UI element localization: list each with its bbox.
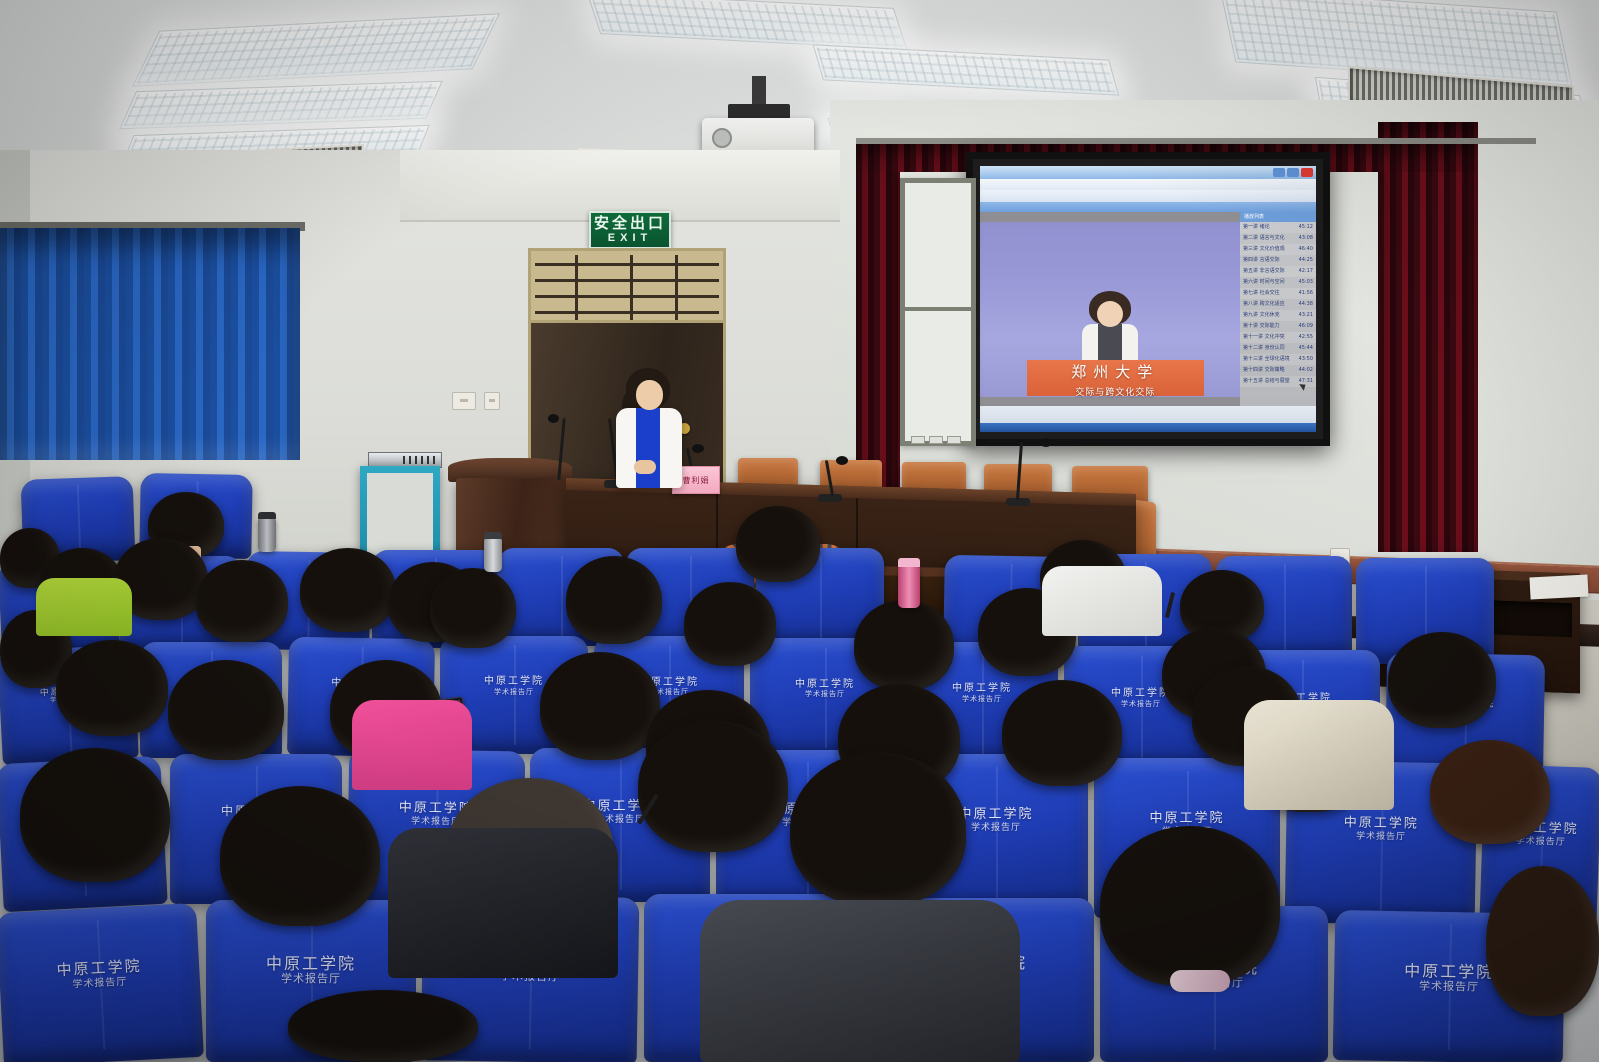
video-subtitle-text: 交际与跨文化交际 bbox=[1027, 385, 1204, 398]
projector-lens bbox=[712, 128, 732, 148]
video-lecturer-face bbox=[1097, 301, 1123, 327]
exit-sign: 安全出口 EXIT bbox=[589, 211, 671, 249]
audience-head bbox=[638, 720, 788, 852]
video-podium-banner: 郑州大学 交际与跨文化交际 bbox=[1027, 360, 1204, 396]
wall-outlet bbox=[484, 392, 500, 410]
playlist-items[interactable]: 第一讲 绪论45:12第二讲 语言与文化43:08第三讲 文化价值观46:40第… bbox=[1240, 222, 1316, 387]
playlist-item[interactable]: 第十三讲 全球化语境43:50 bbox=[1240, 354, 1316, 365]
gray-suit-shoulder bbox=[700, 900, 1020, 1062]
media-player-menubar[interactable] bbox=[980, 179, 1316, 190]
projection-screen: 郑州大学 交际与跨文化交际 播放列表 第一讲 绪论45:12第二讲 语言与文化4… bbox=[966, 152, 1330, 446]
playlist-item-title: 第三讲 文化价值观 bbox=[1243, 244, 1285, 255]
playlist-item[interactable]: 第十一讲 文化冲突42:55 bbox=[1240, 332, 1316, 343]
seat-logo-line2: 学术报告厅 bbox=[206, 973, 416, 986]
presenter-face bbox=[636, 380, 663, 410]
playlist-item-title: 第二讲 语言与文化 bbox=[1243, 233, 1285, 244]
playlist-item-title: 第七讲 社会交往 bbox=[1243, 288, 1280, 299]
seat-logo: 中原工学院学术报告厅 bbox=[206, 955, 416, 986]
playlist-item-duration: 43:50 bbox=[1299, 354, 1313, 365]
playlist-item-duration: 44:38 bbox=[1299, 299, 1313, 310]
white-shirt-shoulder bbox=[1042, 566, 1162, 636]
maximize-button[interactable] bbox=[1287, 168, 1299, 177]
playlist-item-title: 第六讲 时间与空间 bbox=[1243, 277, 1285, 288]
playlist-item-title: 第十讲 交际能力 bbox=[1243, 321, 1280, 332]
playlist-item-duration: 44:02 bbox=[1299, 365, 1313, 376]
seat-logo-line2: 学术报告厅 bbox=[0, 972, 200, 994]
audience-head bbox=[790, 752, 966, 906]
cream-jacket-shoulder bbox=[1244, 700, 1394, 810]
playlist-item-title: 第十五讲 总结与展望 bbox=[1243, 376, 1290, 387]
audience-head bbox=[300, 548, 396, 632]
projected-desktop: 郑州大学 交际与跨文化交际 播放列表 第一讲 绪论45:12第二讲 语言与文化4… bbox=[980, 166, 1316, 432]
microphone-capsule bbox=[836, 456, 848, 465]
audience-head bbox=[1100, 826, 1280, 986]
whiteboard-marker[interactable] bbox=[911, 436, 925, 444]
playlist-item-title: 第十一讲 文化冲突 bbox=[1243, 332, 1285, 343]
playlist-item[interactable]: 第十讲 交际能力46:09 bbox=[1240, 321, 1316, 332]
exit-sign-label-cn: 安全出口 bbox=[591, 213, 669, 231]
audience-seat[interactable]: 中原工学院学术报告厅 bbox=[0, 903, 204, 1062]
media-player-titlebar bbox=[980, 166, 1316, 179]
playlist-item[interactable]: 第十二讲 身份认同45:44 bbox=[1240, 343, 1316, 354]
dark-coat-shoulder bbox=[388, 828, 618, 978]
playlist-item-title: 第十二讲 身份认同 bbox=[1243, 343, 1285, 354]
seat-logo-line1: 中原工学院 bbox=[206, 955, 416, 973]
playlist-item[interactable]: 第七讲 社会交往41:56 bbox=[1240, 288, 1316, 299]
audience-head bbox=[736, 506, 820, 582]
playlist-item-duration: 43:08 bbox=[1299, 233, 1313, 244]
audience-head bbox=[540, 652, 660, 760]
audience-head bbox=[196, 560, 288, 642]
playlist-item-title: 第五讲 非言语交际 bbox=[1243, 266, 1285, 277]
presenter-hands bbox=[634, 460, 656, 474]
audience-head bbox=[854, 600, 954, 690]
playlist-item-title: 第九讲 文化休克 bbox=[1243, 310, 1280, 321]
playlist-item-title: 第一讲 绪论 bbox=[1243, 222, 1270, 233]
close-icon[interactable] bbox=[1301, 168, 1313, 177]
pink-jacket-shoulder bbox=[352, 700, 472, 790]
whiteboard-divider bbox=[905, 307, 971, 311]
audience-head bbox=[566, 556, 662, 644]
presenter-speaker bbox=[604, 368, 694, 518]
bottle-cap bbox=[258, 512, 276, 519]
playlist-item-title: 第八讲 跨文化适应 bbox=[1243, 299, 1285, 310]
minimize-button[interactable] bbox=[1273, 168, 1285, 177]
audience-head bbox=[1388, 632, 1496, 728]
video-letterbox bbox=[980, 212, 1240, 222]
bottle-cap bbox=[484, 532, 502, 539]
wall-whiteboard[interactable] bbox=[900, 178, 976, 446]
audience-head bbox=[56, 640, 168, 736]
playlist-item[interactable]: 第九讲 文化休克43:21 bbox=[1240, 310, 1316, 321]
presenter-jacket bbox=[616, 408, 682, 488]
playlist-item[interactable]: 第十四讲 交际策略44:02 bbox=[1240, 365, 1316, 376]
playlist-item[interactable]: 第四讲 言语交际44:25 bbox=[1240, 255, 1316, 266]
playlist-item-title: 第十三讲 全球化语境 bbox=[1243, 354, 1290, 365]
playlist-item-duration: 45:12 bbox=[1299, 222, 1313, 233]
playlist-item-duration: 46:40 bbox=[1299, 244, 1313, 255]
playlist-item-duration: 42:55 bbox=[1299, 332, 1313, 343]
video-lecturer-figure bbox=[1081, 291, 1139, 364]
video-banner-text: 郑州大学 bbox=[1027, 360, 1204, 384]
audience-head bbox=[1002, 680, 1122, 786]
audience-head bbox=[1486, 866, 1599, 1016]
audience-head bbox=[20, 748, 170, 882]
audience-head bbox=[1430, 740, 1550, 844]
window-curtain-blue[interactable] bbox=[0, 228, 300, 460]
audience-head bbox=[430, 568, 516, 648]
playlist-item[interactable]: 第五讲 非言语交际42:17 bbox=[1240, 266, 1316, 277]
playlist-item-title: 第十四讲 交际策略 bbox=[1243, 365, 1285, 376]
whiteboard-marker[interactable] bbox=[929, 436, 943, 444]
whiteboard-marker[interactable] bbox=[947, 436, 961, 444]
lattice-pattern bbox=[535, 255, 719, 321]
thermos-bottle[interactable] bbox=[484, 538, 502, 572]
audience-head bbox=[220, 786, 380, 926]
audience-head bbox=[684, 582, 776, 666]
playlist-item-duration: 41:56 bbox=[1299, 288, 1313, 299]
playlist-item[interactable]: 第二讲 语言与文化43:08 bbox=[1240, 233, 1316, 244]
playlist-item[interactable]: 第八讲 跨文化适应44:38 bbox=[1240, 299, 1316, 310]
bottle-cap bbox=[898, 558, 920, 567]
media-player-tabbar[interactable] bbox=[980, 202, 1316, 212]
playlist-item[interactable]: 第三讲 文化价值观46:40 bbox=[1240, 244, 1316, 255]
microphone-capsule bbox=[548, 414, 559, 423]
thermos-bottle[interactable] bbox=[258, 518, 276, 552]
door-transom-lattice bbox=[528, 248, 726, 328]
seat-logo: 中原工学院学术报告厅 bbox=[0, 955, 200, 994]
green-shirt-shoulder bbox=[36, 578, 132, 636]
paper-sheet[interactable] bbox=[1529, 574, 1588, 599]
projector-mount-arm bbox=[752, 76, 766, 106]
av-rack-vents bbox=[403, 456, 437, 464]
video-lecturer-body bbox=[1082, 324, 1138, 364]
playlist-item-duration: 44:25 bbox=[1299, 255, 1313, 266]
playlist-item-duration: 45:44 bbox=[1299, 343, 1313, 354]
video-letterbox bbox=[980, 397, 1240, 406]
playlist-item-duration: 45:03 bbox=[1299, 277, 1313, 288]
playlist-item-duration: 42:17 bbox=[1299, 266, 1313, 277]
playlist-item-duration: 46:09 bbox=[1299, 321, 1313, 332]
playlist-item-duration: 43:21 bbox=[1299, 310, 1313, 321]
playlist-item[interactable]: 第一讲 绪论45:12 bbox=[1240, 222, 1316, 233]
media-player-toolbar[interactable] bbox=[980, 190, 1316, 202]
video-canvas[interactable]: 郑州大学 交际与跨文化交际 bbox=[980, 212, 1240, 406]
wall-outlet bbox=[452, 392, 476, 410]
stage-curtain-maroon-right bbox=[1378, 122, 1478, 552]
microphone-base bbox=[818, 494, 842, 502]
media-player-playlist[interactable]: 播放列表 第一讲 绪论45:12第二讲 语言与文化43:08第三讲 文化价值观4… bbox=[1240, 212, 1316, 406]
microphone-capsule bbox=[1040, 438, 1052, 447]
curtain-track-rod bbox=[856, 138, 1536, 144]
seat-logo-line1: 中原工学院 bbox=[0, 955, 199, 983]
exit-sign-label-en: EXIT bbox=[591, 231, 669, 244]
playlist-item-title: 第四讲 言语交际 bbox=[1243, 255, 1280, 266]
lecture-hall-photo: 安全出口 EXIT bbox=[0, 0, 1599, 1062]
playlist-header: 播放列表 bbox=[1240, 212, 1316, 222]
audience-head bbox=[168, 660, 284, 760]
hair-clip bbox=[1170, 970, 1230, 992]
windows-taskbar[interactable] bbox=[980, 423, 1316, 432]
water-bottle-pink[interactable] bbox=[898, 566, 920, 608]
audience-head bbox=[288, 990, 478, 1062]
playlist-item[interactable]: 第六讲 时间与空间45:03 bbox=[1240, 277, 1316, 288]
av-cabinet-door[interactable] bbox=[367, 473, 433, 557]
